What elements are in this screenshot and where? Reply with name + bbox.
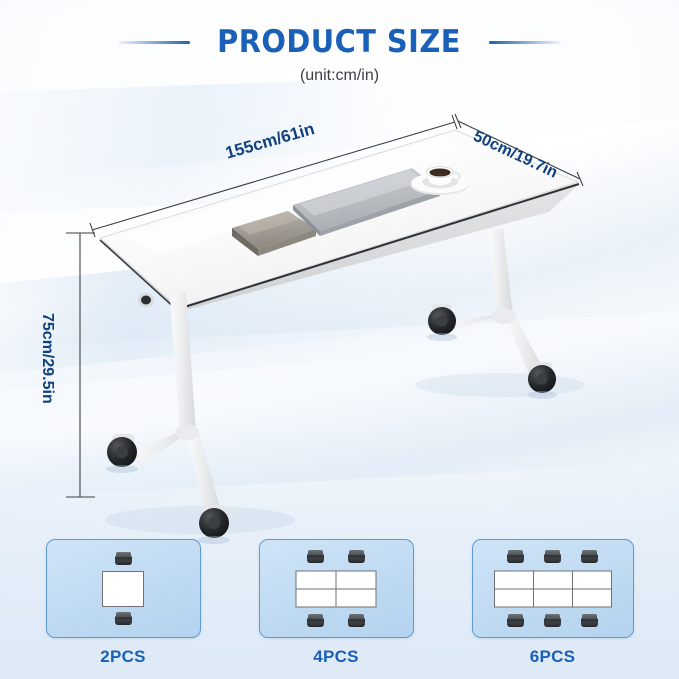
tick-length-left xyxy=(90,223,95,237)
chair-icon xyxy=(507,614,524,627)
table-cell xyxy=(103,572,143,589)
table-cell xyxy=(337,571,376,588)
configuration-label-6pcs: 6PCS xyxy=(530,647,576,667)
table-cell xyxy=(573,571,611,588)
dimension-line-height-group xyxy=(66,233,95,497)
infographic-canvas: PRODUCT SIZE (unit:cm/in) xyxy=(0,0,679,679)
configuration-4pcs[interactable]: 4PCS xyxy=(259,539,414,667)
chair-icon xyxy=(544,614,561,627)
chair-icon xyxy=(581,550,598,563)
chair-icon xyxy=(307,550,324,563)
table-cell xyxy=(337,589,376,606)
leg-left xyxy=(128,292,222,516)
chair-icon xyxy=(115,612,132,625)
chair-icon xyxy=(115,552,132,565)
chair-icon xyxy=(507,550,524,563)
product-illustration: 155cm/61in 50cm/19.7in 75cm/29.5in xyxy=(0,0,679,560)
chairs-bottom-4pcs xyxy=(260,614,413,627)
floor-shadow-right xyxy=(415,373,585,397)
table-cell xyxy=(297,589,336,606)
product-svg xyxy=(0,0,679,560)
leg-right xyxy=(440,228,545,376)
table-cell xyxy=(534,589,572,606)
chairs-top-2pcs xyxy=(47,552,200,565)
table-grid-4pcs xyxy=(296,570,377,607)
chairs-top-6pcs xyxy=(473,550,633,563)
chairs-top-4pcs xyxy=(260,550,413,563)
dimension-label-height: 75cm/29.5in xyxy=(38,313,56,404)
table-grid-6pcs xyxy=(494,570,612,607)
chairs-bottom-2pcs xyxy=(47,612,200,625)
table-cell xyxy=(495,589,533,606)
table-cell xyxy=(573,589,611,606)
chair-icon xyxy=(348,550,365,563)
table-cell xyxy=(103,589,143,606)
configuration-label-2pcs: 2PCS xyxy=(100,647,146,667)
chair-icon xyxy=(348,614,365,627)
configuration-diagram-2pcs xyxy=(46,539,201,638)
table-grid-2pcs xyxy=(102,571,144,607)
configuration-row: 2PCS xyxy=(0,539,679,665)
configuration-2pcs[interactable]: 2PCS xyxy=(46,539,201,667)
table-cell xyxy=(297,571,336,588)
table-cell xyxy=(534,571,572,588)
table-cell xyxy=(495,571,533,588)
chair-icon xyxy=(307,614,324,627)
configuration-label-4pcs: 4PCS xyxy=(313,647,359,667)
configuration-6pcs[interactable]: 6PCS xyxy=(472,539,634,667)
chair-icon xyxy=(581,614,598,627)
configuration-diagram-4pcs xyxy=(259,539,414,638)
configuration-diagram-6pcs xyxy=(472,539,634,638)
caster-right-back xyxy=(427,304,457,341)
caster-left-back xyxy=(106,434,138,473)
chair-icon xyxy=(544,550,561,563)
chairs-bottom-6pcs xyxy=(473,614,633,627)
